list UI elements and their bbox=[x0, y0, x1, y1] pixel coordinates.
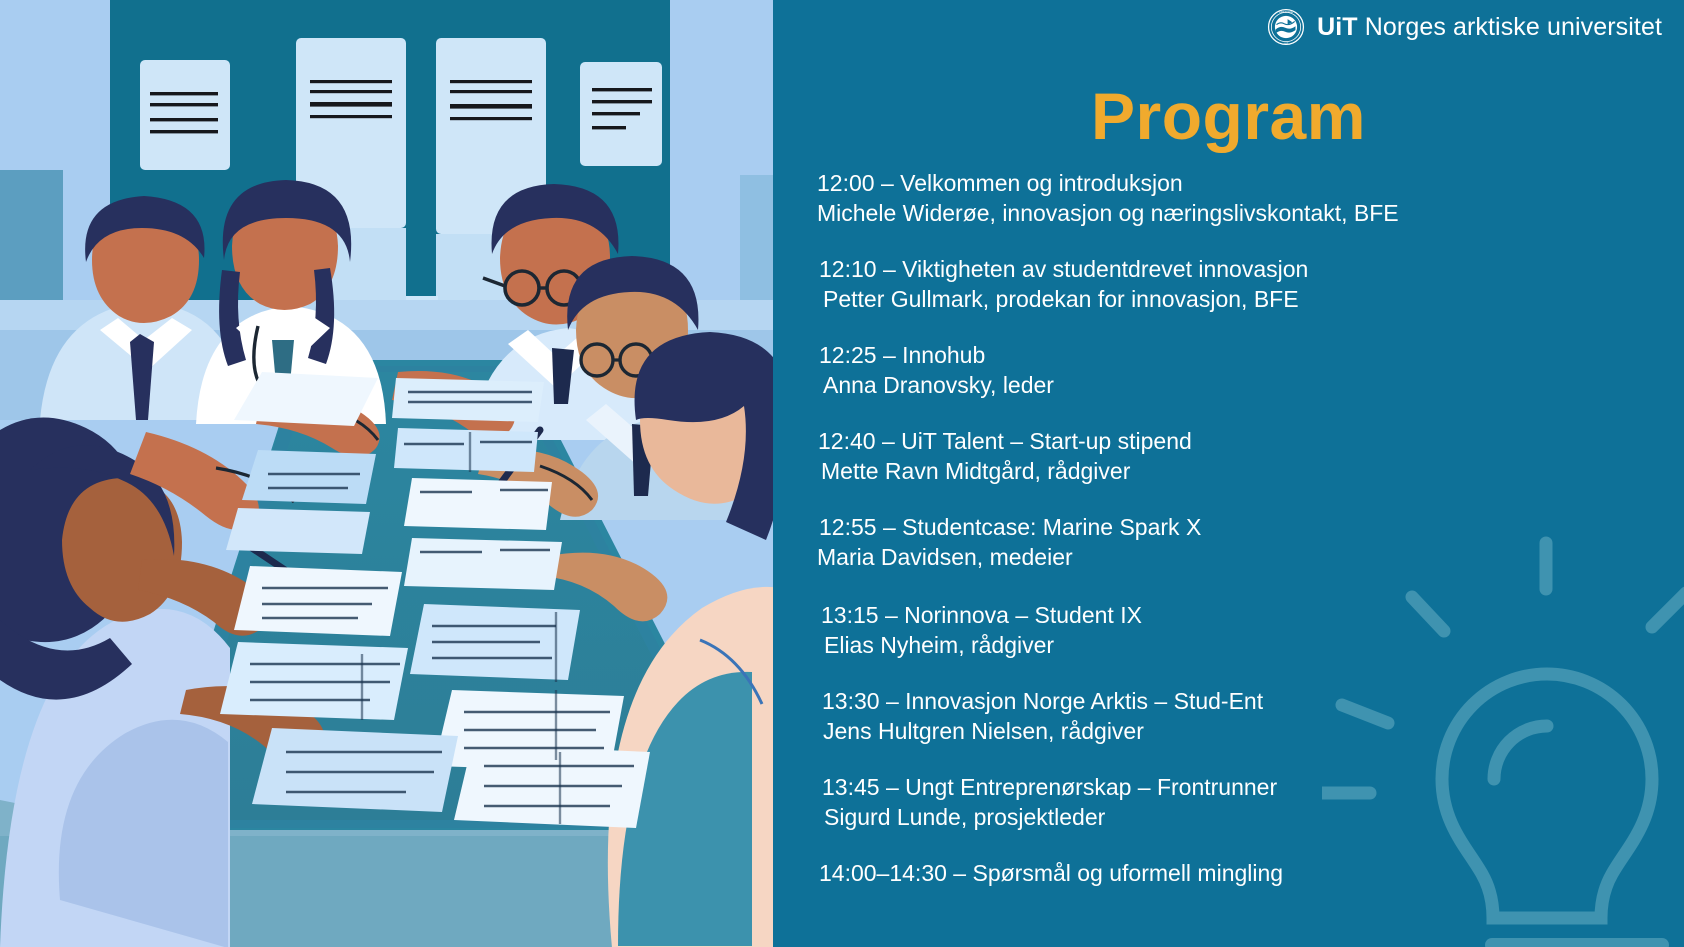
uit-seal-icon: ARKTISKE · UiT · bbox=[1267, 8, 1305, 46]
program-entry: 12:25 – Innohub Anna Dranovsky, leder bbox=[817, 340, 1667, 400]
page-title: Program bbox=[773, 78, 1684, 154]
program-entry: 13:30 – Innovasjon Norge Arktis – Stud-E… bbox=[817, 686, 1667, 746]
program-entry-speaker: Mette Ravn Midtgård, rådgiver bbox=[817, 456, 1667, 486]
program-entry: 12:00 – Velkommen og introduksjon Michel… bbox=[817, 168, 1667, 228]
program-entry-speaker: Sigurd Lunde, prosjektleder bbox=[817, 802, 1667, 832]
program-entry: 12:40 – UiT Talent – Start-up stipend Me… bbox=[817, 426, 1667, 486]
program-entry: 14:00–14:30 – Spørsmål og uformell mingl… bbox=[817, 858, 1667, 888]
program-entry-title: 12:25 – Innohub bbox=[817, 340, 1667, 370]
program-entry-title: 12:10 – Viktigheten av studentdrevet inn… bbox=[817, 254, 1667, 284]
presentation-slide: ARKTISKE · UiT · UiT Norges arktiske uni… bbox=[0, 0, 1684, 947]
program-entry: 13:45 – Ungt Entreprenørskap – Frontrunn… bbox=[817, 772, 1667, 832]
program-entry-title: 14:00–14:30 – Spørsmål og uformell mingl… bbox=[817, 858, 1667, 888]
program-entry-title: 12:40 – UiT Talent – Start-up stipend bbox=[817, 426, 1667, 456]
uit-wordmark: UiT Norges arktiske universitet bbox=[1317, 13, 1662, 42]
program-entry-title: 13:30 – Innovasjon Norge Arktis – Stud-E… bbox=[817, 686, 1667, 716]
uit-brand: UiT bbox=[1317, 13, 1358, 41]
uit-wordmark-text: Norges arktiske universitet bbox=[1358, 13, 1662, 41]
program-entry-speaker: Elias Nyheim, rådgiver bbox=[817, 630, 1667, 660]
uit-logo: ARKTISKE · UiT · UiT Norges arktiske uni… bbox=[1267, 8, 1662, 46]
svg-text:· UiT ·: · UiT · bbox=[1282, 41, 1290, 45]
program-entry-speaker: Jens Hultgren Nielsen, rådgiver bbox=[817, 716, 1667, 746]
program-entry-speaker: Michele Widerøe, innovasjon og næringsli… bbox=[817, 198, 1667, 228]
program-entry-speaker: Petter Gullmark, prodekan for innovasjon… bbox=[817, 284, 1667, 314]
program-entry-title: 13:15 – Norinnova – Student IX bbox=[817, 600, 1667, 630]
program-entry-title: 13:45 – Ungt Entreprenørskap – Frontrunn… bbox=[817, 772, 1667, 802]
program-list: 12:00 – Velkommen og introduksjon Michel… bbox=[817, 168, 1667, 888]
program-entry-title: 12:55 – Studentcase: Marine Spark X bbox=[817, 512, 1667, 542]
svg-text:ARKTISKE: ARKTISKE bbox=[1279, 10, 1293, 14]
program-entry-speaker: Anna Dranovsky, leder bbox=[817, 370, 1667, 400]
meeting-illustration bbox=[0, 0, 773, 947]
program-entry: 12:55 – Studentcase: Marine Spark X Mari… bbox=[817, 512, 1667, 572]
program-panel: ARKTISKE · UiT · UiT Norges arktiske uni… bbox=[773, 0, 1684, 947]
program-entry: 12:10 – Viktigheten av studentdrevet inn… bbox=[817, 254, 1667, 314]
program-entry-speaker: Maria Davidsen, medeier bbox=[817, 542, 1667, 572]
program-entry: 13:15 – Norinnova – Student IX Elias Nyh… bbox=[817, 600, 1667, 660]
program-entry-title: 12:00 – Velkommen og introduksjon bbox=[817, 168, 1667, 198]
